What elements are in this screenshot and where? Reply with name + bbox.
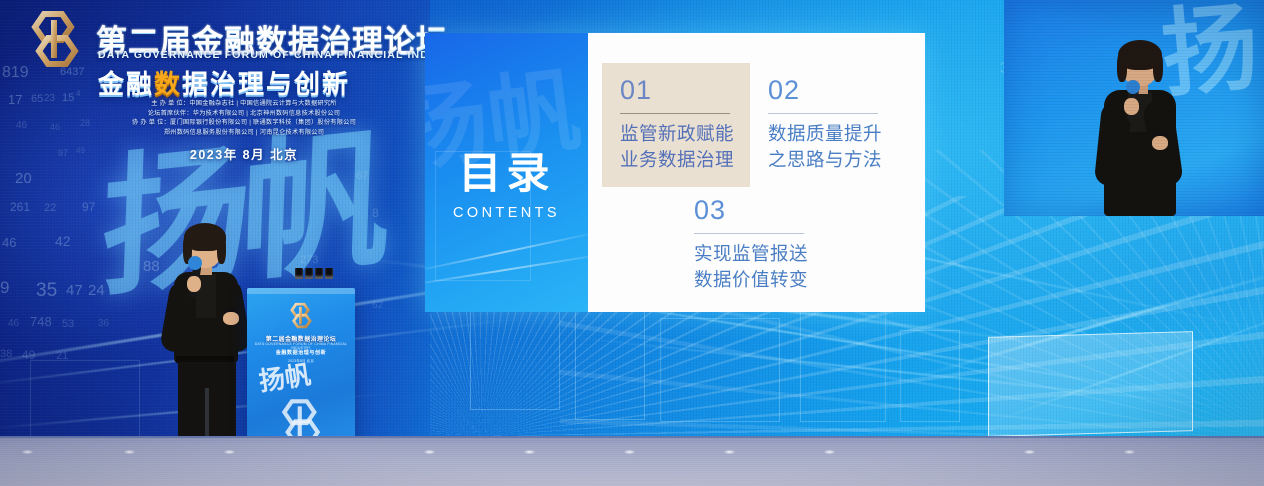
toc-item-text: 实现监管报送 数据价值转变	[694, 242, 808, 293]
speaker-hair-side	[217, 234, 226, 264]
speaker-belt	[176, 356, 234, 362]
toc-item-rule	[694, 233, 804, 234]
floor-light	[1124, 450, 1135, 454]
toc-item-rule	[620, 113, 730, 114]
organizer-line: 郑州数码信息服务股份有限公司 | 河南昆仑技术有限公司	[74, 128, 414, 138]
floor-light	[424, 450, 435, 454]
organizer-line: 协 办 单 位：厦门国际银行股份有限公司 | 联通数字科技（集团）股份有限公司	[74, 118, 414, 128]
floor-light	[224, 450, 235, 454]
theme-highlight-char: 数	[154, 70, 182, 100]
stage-floor-edge	[0, 436, 1264, 438]
microphone-head	[188, 256, 202, 270]
floor-light	[524, 450, 535, 454]
floor-light	[724, 450, 735, 454]
toc-item-01: 01 监管新政赋能 业务数据治理	[620, 77, 734, 173]
forum-title-english: DATA GOVERNANCE FORUM OF CHINA FINANCIAL…	[98, 49, 470, 61]
organizer-block: 主 办 单 位：中国金融杂志社 | 中国信通院云计算与大数据研究所 论坛首席伙伴…	[74, 99, 414, 137]
floor-light	[624, 450, 635, 454]
toc-title-cn: 目录	[425, 153, 588, 196]
stage-light-bar	[295, 268, 333, 279]
speaker-hand-right	[223, 312, 239, 325]
toc-item-03: 03 实现监管报送 数据价值转变	[694, 197, 808, 293]
forum-key-visual: 第二届金融数据治理论坛 DATA GOVERNANCE FORUM OF CHI…	[14, 4, 414, 174]
toc-item-number: 03	[694, 197, 808, 224]
toc-item-number: 01	[620, 77, 734, 104]
slide-content-panel: 01 监管新政赋能 业务数据治理 02 数据质量提升 之思路与方法 03 实现监…	[588, 33, 925, 312]
toc-item-number: 02	[768, 77, 882, 104]
lectern-hexagon-interlock-logo	[286, 302, 316, 330]
toc-item-text: 监管新政赋能 业务数据治理	[620, 122, 734, 173]
hexagon-interlock-logo	[22, 10, 88, 70]
theme-prefix: 金融	[98, 70, 154, 100]
organizer-line: 主 办 单 位：中国金融杂志社 | 中国信通院云计算与大数据研究所	[74, 99, 414, 109]
toc-item-text: 数据质量提升 之思路与方法	[768, 122, 882, 173]
lectern-top-edge	[247, 288, 355, 294]
toc-item-02: 02 数据质量提升 之思路与方法	[768, 77, 882, 173]
stage-light	[315, 268, 323, 279]
toc-title-en: CONTENTS	[425, 205, 588, 221]
floor-light	[22, 450, 33, 454]
stage-light	[295, 268, 303, 279]
forum-date-location: 2023年 8月 北京	[74, 144, 414, 163]
slide-left-panel: 扬帆 目录 CONTENTS	[425, 33, 588, 312]
floor-light	[824, 450, 835, 454]
forum-theme: 金融数据治理与创新	[98, 64, 350, 101]
lectern-calligraphy: 扬帆	[257, 363, 312, 396]
feed-scanline-overlay	[1004, 0, 1264, 216]
organizer-line: 论坛首席伙伴：华为技术有限公司 | 北京神州数码信息技术股份公司	[74, 109, 414, 119]
floor-light	[124, 450, 135, 454]
stage-floor	[0, 436, 1264, 486]
presentation-slide: 扬帆 目录 CONTENTS 01 监管新政赋能 业务数据治理 02	[425, 33, 925, 312]
floor-light	[1024, 450, 1035, 454]
slide-toc-heading: 目录 CONTENTS	[425, 153, 588, 221]
lectern-theme: 金融数据治理与创新	[247, 349, 355, 356]
toc-item-rule	[768, 113, 878, 114]
live-camera-feed: 扬	[1004, 0, 1264, 216]
conference-stage-photo: 扬帆 8196437176523154464628974920261229746…	[0, 0, 1264, 486]
speaker-hand-left	[187, 276, 201, 292]
stage-light	[325, 268, 333, 279]
theme-suffix: 据治理与创新	[182, 70, 350, 100]
stage-light	[305, 268, 313, 279]
floor-texture	[0, 436, 1264, 486]
